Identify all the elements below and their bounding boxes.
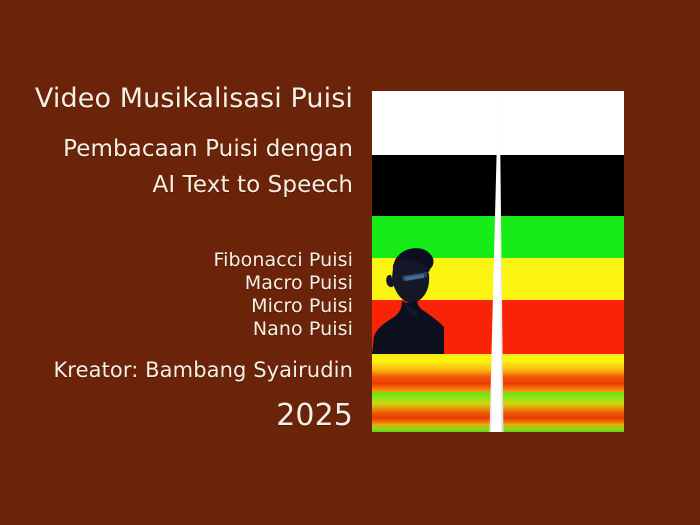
- color-band-gradient-green: [372, 392, 624, 432]
- portrait-silhouette-icon: [372, 241, 444, 354]
- color-band-white: [372, 91, 624, 155]
- poem-type-item: Macro Puisi: [245, 272, 353, 295]
- text-column: Video Musikalisasi Puisi Pembacaan Puisi…: [0, 0, 356, 525]
- year-label: 2025: [276, 398, 353, 434]
- poem-type-item: Nano Puisi: [253, 318, 353, 341]
- page-title: Video Musikalisasi Puisi: [35, 83, 353, 115]
- subtitle-line-2: AI Text to Speech: [153, 171, 353, 199]
- slide-canvas: Video Musikalisasi Puisi Pembacaan Puisi…: [0, 0, 700, 525]
- subtitle-line-1: Pembacaan Puisi dengan: [63, 135, 353, 163]
- cover-image-panel: [372, 91, 624, 432]
- poem-type-item: Fibonacci Puisi: [213, 249, 353, 272]
- creator-credit: Kreator: Bambang Syairudin: [53, 357, 353, 383]
- color-band-black: [372, 155, 624, 216]
- poem-type-item: Micro Puisi: [251, 295, 353, 318]
- color-band-gradient-warm: [372, 354, 624, 392]
